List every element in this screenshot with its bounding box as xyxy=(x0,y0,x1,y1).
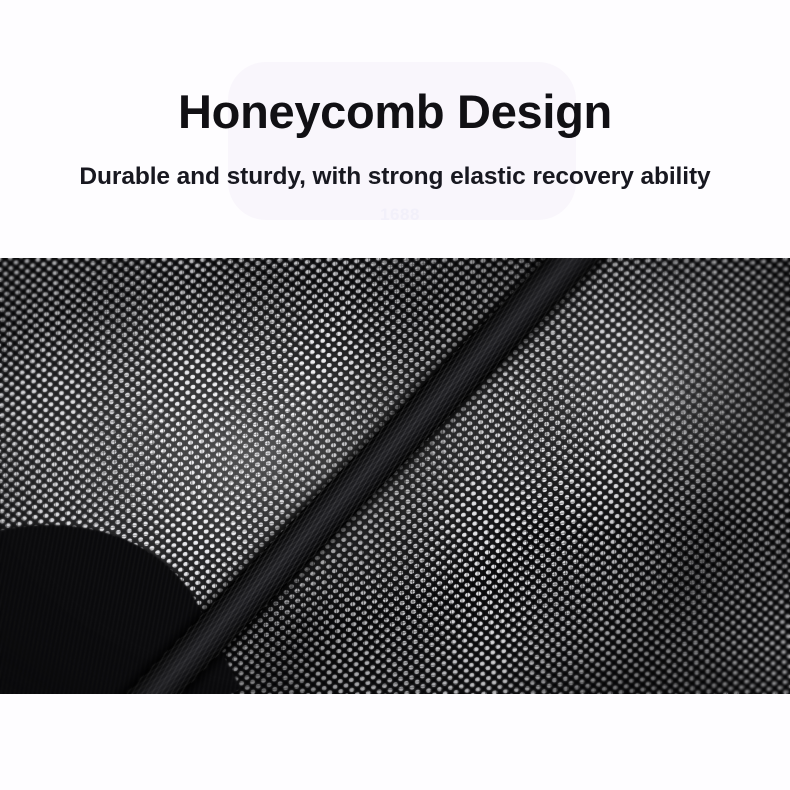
page-subtitle: Durable and sturdy, with strong elastic … xyxy=(0,160,790,194)
photo-content xyxy=(0,258,790,694)
product-feature-card: Honeycomb Design Durable and sturdy, wit… xyxy=(0,0,790,790)
mesh-thread-grain xyxy=(0,258,790,694)
page-title: Honeycomb Design xyxy=(0,84,790,140)
background-watermark: 1688 xyxy=(330,205,470,227)
header-text-block: Honeycomb Design Durable and sturdy, wit… xyxy=(0,0,790,258)
product-photo xyxy=(0,258,790,694)
footer-spacer xyxy=(0,694,790,790)
